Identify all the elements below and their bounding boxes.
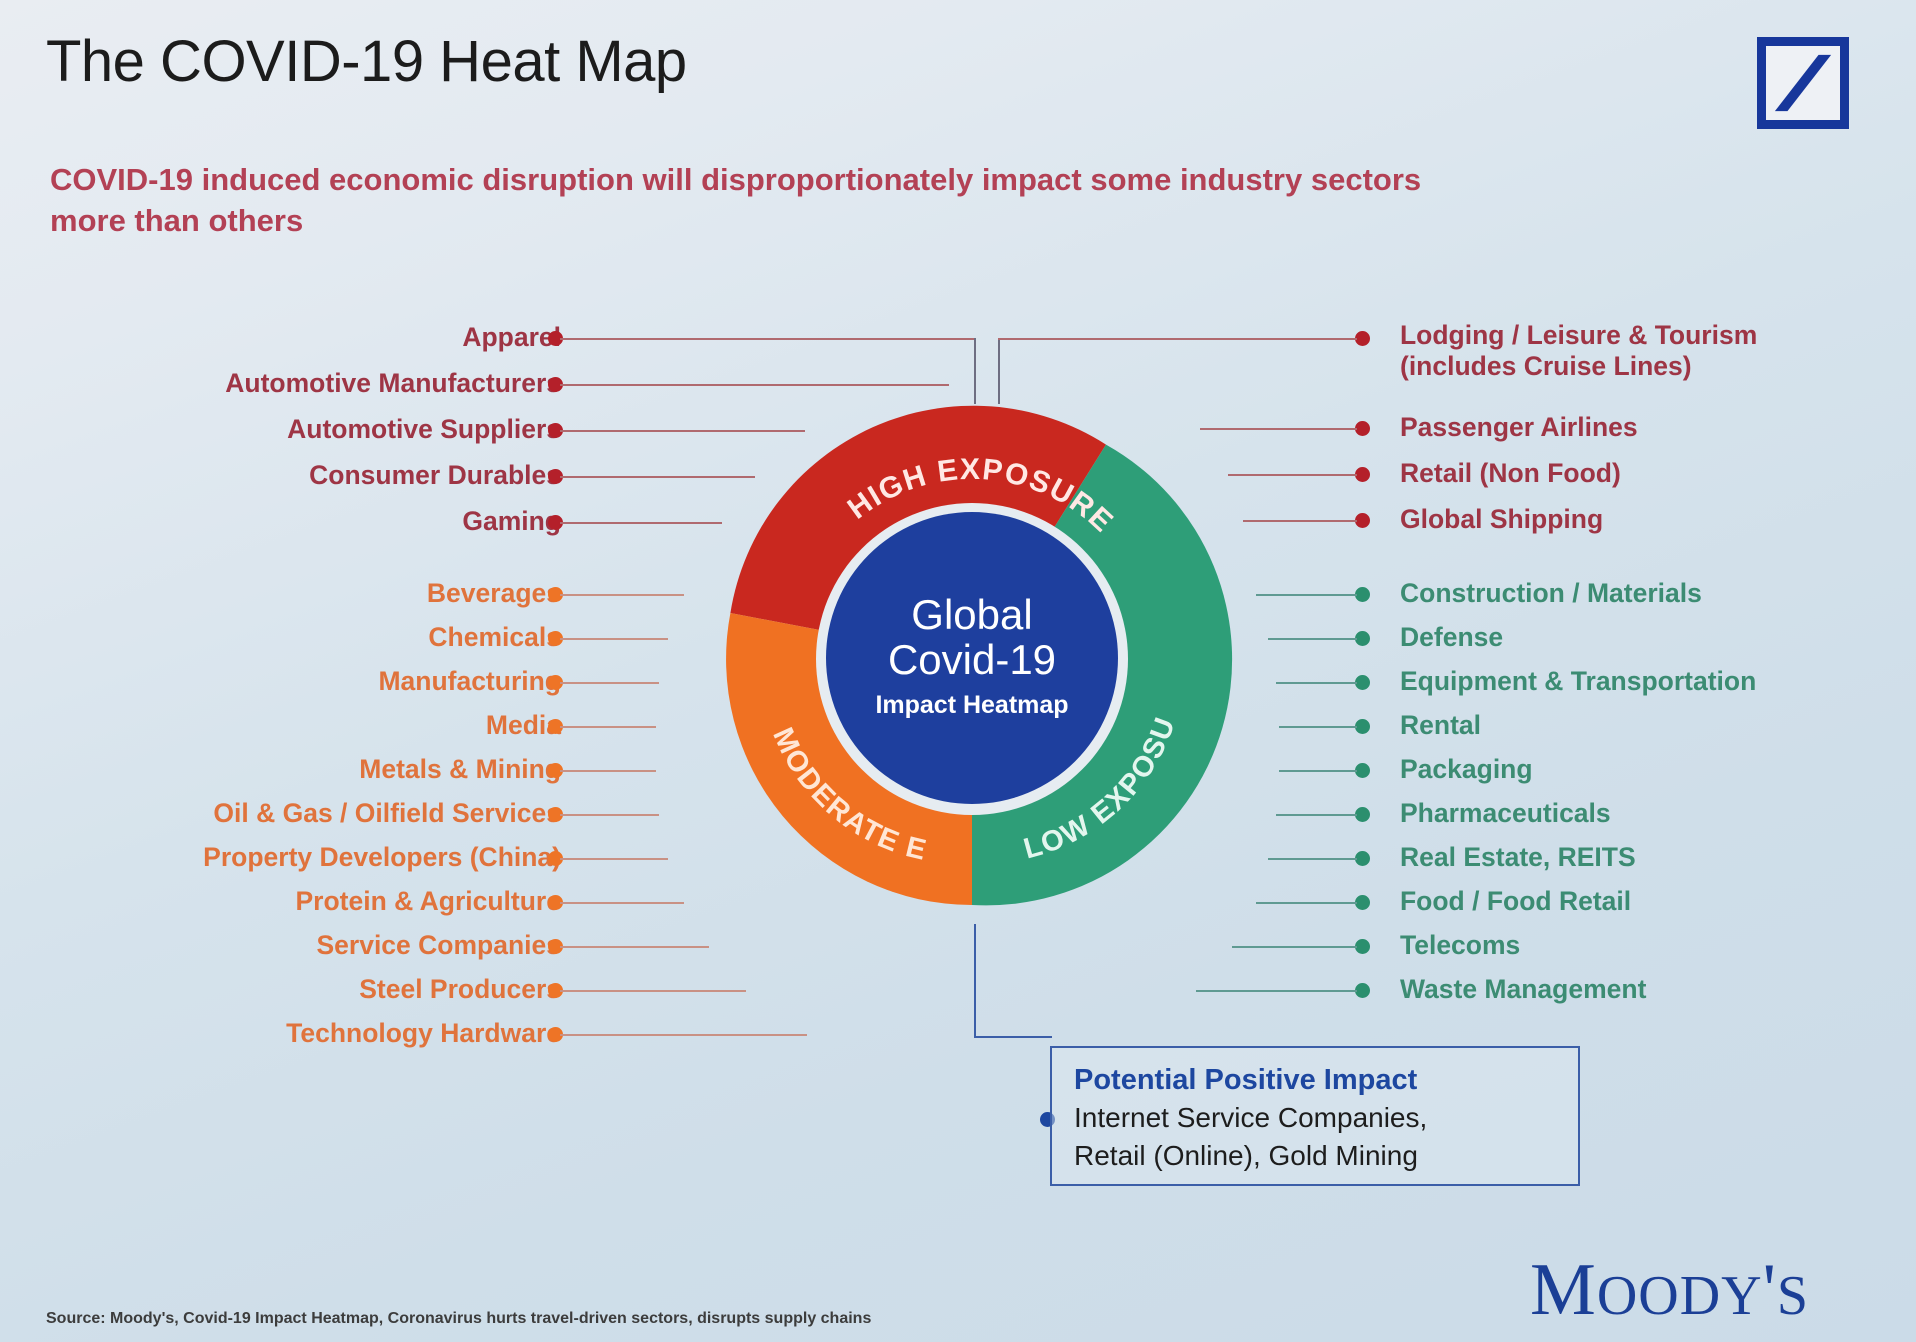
dot-low-3 <box>1355 719 1370 734</box>
label-low-8: Telecoms <box>1400 930 1520 961</box>
leader-low-1 <box>1268 638 1357 640</box>
dot-high-right-3 <box>1355 513 1370 528</box>
leader-moderate-8 <box>560 946 709 948</box>
leader-high-left-4 <box>560 522 722 524</box>
label-high-left-1: Automotive Manufacturers <box>225 368 561 399</box>
leader-moderate-0 <box>560 594 684 596</box>
callout-title: Potential Positive Impact <box>1074 1062 1560 1098</box>
leader-moderate-3 <box>560 726 656 728</box>
label-high-right-1: Passenger Airlines <box>1400 412 1638 443</box>
dot-low-6 <box>1355 851 1370 866</box>
moodys-logo-s: S <box>1777 1265 1809 1327</box>
source-note: Source: Moody's, Covid-19 Impact Heatmap… <box>46 1310 871 1328</box>
moodys-logo-m: M <box>1530 1249 1597 1331</box>
dot-low-2 <box>1355 675 1370 690</box>
leader-high-left-3 <box>560 476 755 478</box>
donut-center-hub: Global Covid-19 Impact Heatmap <box>826 512 1118 804</box>
dot-low-8 <box>1355 939 1370 954</box>
label-high-right-0: Lodging / Leisure & Tourism (includes Cr… <box>1400 320 1800 383</box>
leader-moderate-1 <box>560 638 668 640</box>
leader-moderate-4 <box>560 770 656 772</box>
leader-moderate-10 <box>560 1034 807 1036</box>
potential-positive-impact-callout: Potential Positive Impact Internet Servi… <box>1050 1046 1580 1186</box>
dot-low-0 <box>1355 587 1370 602</box>
dot-low-5 <box>1355 807 1370 822</box>
label-low-4: Packaging <box>1400 754 1533 785</box>
label-moderate-7: Protein & Agriculture <box>295 886 561 917</box>
leader-high-right-1 <box>1200 428 1357 430</box>
label-moderate-0: Beverages <box>427 578 561 609</box>
label-low-1: Defense <box>1400 622 1503 653</box>
callout-line-1: Internet Service Companies, <box>1074 1101 1560 1136</box>
hub-line-3: Impact Heatmap <box>875 687 1068 725</box>
label-moderate-10: Technology Hardware <box>286 1018 561 1049</box>
label-moderate-1: Chemicals <box>428 622 561 653</box>
infographic-root: The COVID-19 Heat Map COVID-19 induced e… <box>0 0 1916 1342</box>
dot-high-right-1 <box>1355 421 1370 436</box>
label-moderate-2: Manufacturing <box>378 666 561 697</box>
leader-high-left-2 <box>560 430 805 432</box>
label-moderate-4: Metals & Mining <box>359 754 561 785</box>
leader-high-right-2 <box>1228 474 1357 476</box>
callout-riser <box>974 924 976 1036</box>
label-low-0: Construction / Materials <box>1400 578 1702 609</box>
label-low-7: Food / Food Retail <box>1400 886 1631 917</box>
callout-leader <box>974 1036 1052 1038</box>
leader-low-6 <box>1268 858 1357 860</box>
label-low-6: Real Estate, REITS <box>1400 842 1636 873</box>
label-low-9: Waste Management <box>1400 974 1646 1005</box>
leader-low-0 <box>1256 594 1357 596</box>
moodys-logo-apostrophe: ' <box>1763 1249 1777 1331</box>
label-low-5: Pharmaceuticals <box>1400 798 1611 829</box>
dot-low-9 <box>1355 983 1370 998</box>
label-low-2: Equipment & Transportation <box>1400 666 1756 697</box>
moodys-logo: MOODY'S <box>1530 1248 1809 1333</box>
riser-high-right <box>998 338 1000 404</box>
hub-line-1: Global <box>911 592 1032 637</box>
dot-high-right-2 <box>1355 467 1370 482</box>
deutsche-bank-logo-icon <box>1757 37 1849 129</box>
dot-low-7 <box>1355 895 1370 910</box>
label-moderate-6: Property Developers (China) <box>203 842 561 873</box>
hub-line-2: Covid-19 <box>888 637 1056 682</box>
leader-low-9 <box>1196 990 1357 992</box>
label-high-right-3: Global Shipping <box>1400 504 1603 535</box>
label-high-left-4: Gaming <box>462 506 561 537</box>
label-moderate-5: Oil & Gas / Oilfield Services <box>213 798 561 829</box>
leader-low-7 <box>1256 902 1357 904</box>
leader-moderate-6 <box>560 858 668 860</box>
dot-low-1 <box>1355 631 1370 646</box>
label-high-left-3: Consumer Durables <box>309 460 561 491</box>
leader-high-left-1 <box>560 384 949 386</box>
leader-moderate-9 <box>560 990 746 992</box>
label-low-3: Rental <box>1400 710 1481 741</box>
dot-high-right-0 <box>1355 331 1370 346</box>
leader-moderate-5 <box>560 814 659 816</box>
moodys-logo-oody: OODY <box>1597 1265 1763 1327</box>
label-moderate-8: Service Companies <box>316 930 561 961</box>
leader-high-right-0 <box>998 338 1357 340</box>
page-title: The COVID-19 Heat Map <box>46 28 687 95</box>
leader-low-5 <box>1276 814 1357 816</box>
leader-low-3 <box>1279 726 1357 728</box>
leader-high-right-3 <box>1243 520 1357 522</box>
leader-high-left-0 <box>560 338 974 340</box>
label-moderate-9: Steel Producers <box>359 974 561 1005</box>
label-high-right-2: Retail (Non Food) <box>1400 458 1621 489</box>
dot-low-4 <box>1355 763 1370 778</box>
leader-low-4 <box>1279 770 1357 772</box>
label-high-left-0: Apparel <box>462 322 561 353</box>
label-high-left-2: Automotive Suppliers <box>287 414 561 445</box>
leader-low-2 <box>1276 682 1357 684</box>
page-subtitle: COVID-19 induced economic disruption wil… <box>50 160 1470 242</box>
leader-moderate-2 <box>560 682 659 684</box>
leader-low-8 <box>1232 946 1357 948</box>
callout-line-2: Retail (Online), Gold Mining <box>1074 1139 1560 1174</box>
riser-high-left <box>974 338 976 404</box>
leader-moderate-7 <box>560 902 684 904</box>
